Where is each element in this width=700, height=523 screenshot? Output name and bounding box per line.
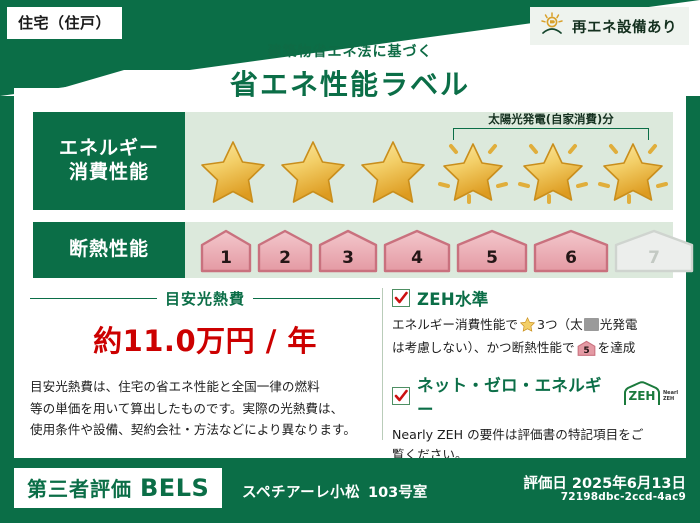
- evaluation-id: 72198dbc-2ccd-4ac9: [561, 491, 686, 503]
- svg-text:ZEH: ZEH: [629, 389, 656, 403]
- energy-star-rating: [195, 134, 671, 206]
- insulation-grade-number: 3: [342, 248, 354, 273]
- star-icon-solar: [595, 134, 671, 206]
- zeh-logo-icon: ZEH Nearly ZEH: [622, 381, 678, 411]
- star-icon: [355, 134, 431, 206]
- heading-rule-left: [30, 298, 157, 300]
- renewable-badge-label: 再エネ設備あり: [572, 16, 677, 37]
- insulation-grade-number: 4: [411, 248, 423, 273]
- zeh-desc-part-d: は考慮しない）、かつ断熱性能で: [392, 340, 575, 355]
- insulation-grade-badge: 6: [532, 227, 610, 273]
- svg-text:5: 5: [583, 346, 589, 356]
- insulation-grade-number: 1: [220, 248, 232, 273]
- utility-cost-block: 目安光熱費 約11.0万円 / 年 目安光熱費は、住宅の省エネ性能と全国一律の燃…: [30, 288, 380, 441]
- star-icon: [195, 134, 271, 206]
- utility-cost-note-line1: 目安光熱費は、住宅の省エネ性能と全国一律の燃料: [30, 376, 380, 398]
- sun-solar-icon: [539, 12, 565, 40]
- energy-row-label-line2: 消費性能: [69, 161, 149, 185]
- net-zero-title: ネット・ゼロ・エネルギー: [417, 372, 611, 420]
- zeh-desc-part-e: を達成: [598, 340, 636, 355]
- star-icon-solar: [515, 134, 591, 206]
- energy-row-label: エネルギー 消費性能: [33, 112, 185, 210]
- svg-text:ZEH: ZEH: [663, 396, 674, 402]
- building-name: スペチアーレ小松: [242, 481, 360, 502]
- checkbox-checked-icon: [392, 289, 410, 307]
- bels-badge-en-label: BELS: [140, 474, 209, 502]
- utility-cost-note: 目安光熱費は、住宅の省エネ性能と全国一律の燃料 等の単価を用いて算出したものです…: [30, 376, 380, 441]
- energy-row-label-line1: エネルギー: [59, 137, 159, 161]
- room-number: 103号室: [368, 481, 427, 502]
- insulation-grade-badge-inactive: 7: [613, 227, 695, 273]
- zeh-criteria-column: ZEH水準 エネルギー消費性能で3つ（太光発電は考慮しない）、かつ断熱性能で5を…: [392, 286, 678, 475]
- insulation-grade-number: 6: [565, 248, 577, 273]
- heading-rule-right: [253, 298, 380, 300]
- zeh-desc-part-c: 光発電: [600, 317, 638, 332]
- housing-type-tag: 住宅（住戸）: [6, 6, 123, 40]
- zeh-desc-part-b: 3つ（太: [537, 317, 583, 332]
- energy-row-body: 太陽光発電(自家消費)分: [185, 112, 673, 210]
- redacted-block: [584, 318, 599, 331]
- insulation-grade-number: 7: [648, 248, 660, 273]
- insulation-grade-badge: 5: [455, 227, 529, 273]
- utility-cost-note-line3: 使用条件や設備、契約会社・方法などにより異なります。: [30, 419, 380, 441]
- net-zero-title-row: ネット・ゼロ・エネルギー ZEH Nearly ZEH: [392, 372, 678, 420]
- insulation-grade-number: 2: [279, 248, 291, 273]
- page-title: 省エネ性能ラベル: [0, 63, 700, 103]
- net-zero-energy-item: ネット・ゼロ・エネルギー ZEH Nearly ZEH Nearly ZEH の…: [392, 372, 678, 466]
- energy-performance-row: エネルギー 消費性能 太陽光発電(自家消費)分: [33, 112, 673, 210]
- insulation-grade-badge: 2: [256, 227, 314, 273]
- utility-cost-heading-row: 目安光熱費: [30, 288, 380, 309]
- insulation-grade-badge: 1: [199, 227, 253, 273]
- evaluation-date: 評価日 2025年6月13日: [523, 472, 686, 493]
- solar-bracket-label: 太陽光発電(自家消費)分: [435, 111, 667, 127]
- zeh-standard-title: ZEH水準: [417, 286, 489, 310]
- label-heading-group: 建築物省エネ法に基づく 省エネ性能ラベル: [0, 41, 700, 103]
- zeh-standard-description: エネルギー消費性能で3つ（太光発電は考慮しない）、かつ断熱性能で5を達成: [392, 315, 678, 363]
- insulation-row-label: 断熱性能: [33, 222, 185, 278]
- insulation-grade-badge-inline: 5: [577, 344, 596, 359]
- star-icon-inline: [519, 320, 536, 335]
- insulation-grade-scale: 1 2 3 4: [199, 227, 695, 273]
- section-divider: [382, 288, 383, 440]
- insulation-grade-number: 5: [486, 248, 498, 273]
- insulation-grade-badge: 4: [382, 227, 452, 273]
- utility-cost-note-line2: 等の単価を用いて算出したものです。実際の光熱費は、: [30, 398, 380, 420]
- bels-badge-jp-label: 第三者評価: [27, 473, 132, 502]
- insulation-row-body: 1 2 3 4: [185, 222, 673, 278]
- utility-cost-value: 約11.0万円 / 年: [30, 318, 380, 360]
- zeh-desc-part-a: エネルギー消費性能で: [392, 317, 518, 332]
- utility-cost-heading: 目安光熱費: [165, 288, 245, 309]
- checkbox-checked-icon: [392, 387, 410, 405]
- net-zero-desc-line1: Nearly ZEH の要件は評価書の特記項目をご: [392, 425, 678, 445]
- insulation-grade-badge: 3: [317, 227, 379, 273]
- bels-certification-badge: 第三者評価 BELS: [14, 468, 222, 508]
- renewable-equipment-badge: 再エネ設備あり: [530, 7, 689, 45]
- energy-label-root: 住宅（住戸） 再エネ設備あり 建築物省エネ法に基づく 省エネ性能ラベル: [0, 0, 700, 523]
- zeh-standard-item: ZEH水準 エネルギー消費性能で3つ（太光発電は考慮しない）、かつ断熱性能で5を…: [392, 286, 678, 363]
- star-icon-solar: [435, 134, 511, 206]
- star-icon: [275, 134, 351, 206]
- insulation-performance-row: 断熱性能 1 2: [33, 222, 673, 278]
- zeh-standard-title-row: ZEH水準: [392, 286, 678, 310]
